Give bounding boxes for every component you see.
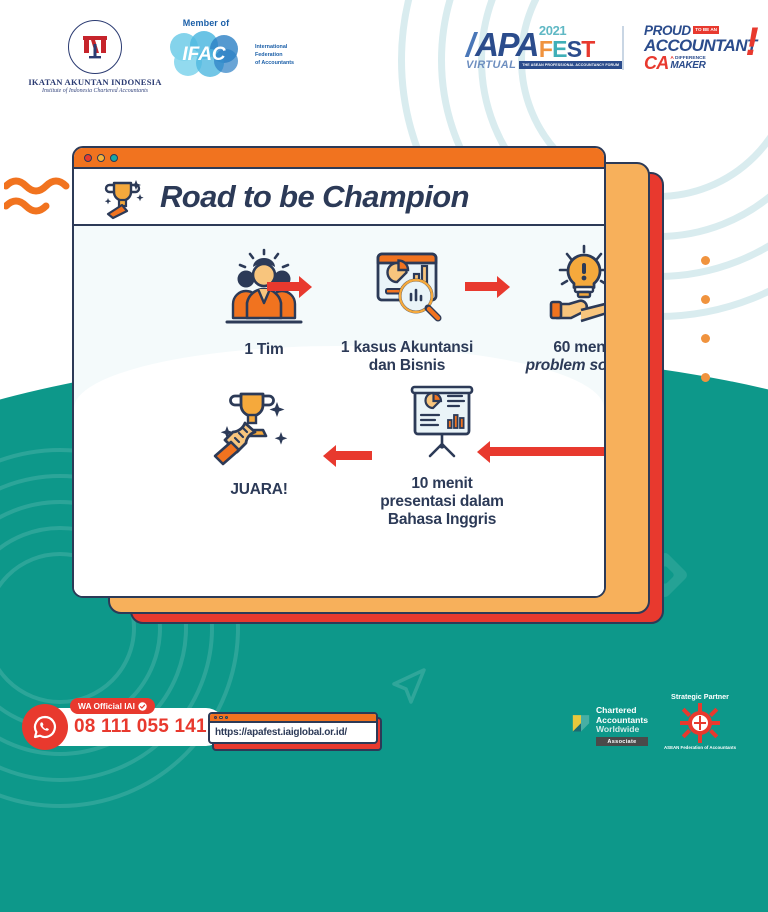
flow-arrow-3 (332, 451, 372, 460)
card-body: 1 Tim (74, 226, 604, 596)
browser-window-card: Road to be Champion (72, 146, 606, 598)
to-be-an-label: TO BE AN (693, 26, 720, 34)
flow-step-4-label-line1: 10 menit (352, 475, 532, 493)
ifac-logo: Member of IFAC International Federation … (158, 18, 308, 80)
caw-associate-badge: Associate (596, 737, 648, 746)
flow-step-4-label-line3: Bahasa Inggris (352, 511, 532, 529)
window-titlebar (74, 148, 604, 169)
flow-step-2-case: 1 kasus Akuntansi dan Bisnis (312, 242, 502, 375)
ca-label: CA (644, 55, 668, 72)
proud-accountant-logo: PROUD TO BE AN ACCOUNTANT CA A DIFFERENC… (644, 24, 757, 72)
window-minimize-dot[interactable] (97, 154, 105, 162)
poster-canvas: IKATAN AKUNTAN INDONESIA Institute of In… (0, 0, 768, 768)
accountant-label: ACCOUNTANT (644, 38, 757, 54)
apa-wordmark: APA (475, 31, 538, 59)
website-url-window[interactable]: https://apafest.iaiglobal.or.id/ (208, 712, 378, 744)
maker-label: MAKER (670, 61, 705, 70)
iai-name: IKATAN AKUNTAN INDONESIA (20, 77, 170, 87)
orange-squiggle-decoration (4, 172, 82, 220)
flow-step-5-label: JUARA! (184, 481, 334, 499)
url-window-titlebar (210, 714, 376, 723)
ifac-member-of-label: Member of (158, 18, 254, 28)
flow-step-1-tim: 1 Tim (204, 248, 324, 359)
analysis-icon (364, 242, 450, 328)
presentation-icon (404, 384, 480, 464)
flow-step-2-label-line2: dan Bisnis (312, 357, 502, 375)
svg-text:IFAC: IFAC (182, 44, 226, 65)
apa-virtual-label: VIRTUAL (466, 59, 516, 71)
strategic-partner-title: Strategic Partner (658, 692, 742, 701)
apafest-logo: / APA 2021 FEST VIRTUAL THE ASEAN PROFES… (466, 22, 622, 71)
ifac-mark-icon: IFAC (158, 30, 250, 80)
ifac-tagline: International Federation of Accountants (255, 43, 294, 67)
chartered-accountants-worldwide-logo: Chartered Accountants Worldwide Associat… (571, 706, 648, 746)
strategic-partner-block: Strategic Partner ASEAN Federatio (658, 692, 742, 750)
page-title: Road to be Champion (160, 179, 469, 215)
flow-step-1-label: 1 Tim (204, 341, 324, 359)
fest-wordmark: FEST (539, 40, 595, 58)
window-maximize-dot[interactable] (110, 154, 118, 162)
champion-trophy-icon (211, 384, 307, 470)
afa-starburst-icon (678, 703, 722, 743)
whatsapp-phone-number[interactable]: 08 111 055 141 (74, 716, 207, 738)
header-logo-bar: IKATAN AKUNTAN INDONESIA Institute of In… (0, 0, 768, 110)
whatsapp-contact[interactable]: WA Official IAI 08 111 055 141 (30, 708, 225, 746)
trophy-icon (100, 174, 146, 220)
iai-logo: IKATAN AKUNTAN INDONESIA Institute of In… (20, 20, 170, 94)
idea-hand-icon (541, 242, 606, 328)
iai-subtitle: Institute of Indonesia Chartered Account… (20, 88, 170, 94)
flow-arrow-1 (267, 282, 303, 291)
flow-diagram: 1 Tim (74, 226, 604, 596)
caw-mark-icon (571, 713, 591, 739)
iai-emblem-icon (68, 20, 122, 74)
website-url[interactable]: https://apafest.iaiglobal.or.id/ (210, 723, 376, 742)
flow-step-5-juara: JUARA! (184, 384, 334, 499)
header-divider (622, 26, 624, 70)
exclamation-mark: ! (745, 26, 758, 58)
whatsapp-icon[interactable] (22, 704, 68, 750)
wa-badge-label: WA Official IAI (78, 701, 135, 711)
verified-check-icon (138, 702, 147, 711)
apa-tagline: THE ASEAN PROFESSIONAL ACCOUNTANCY FORUM (519, 61, 622, 69)
strategic-partner-subtitle: ASEAN Federation of Accountants (658, 745, 742, 750)
window-close-dot[interactable] (84, 154, 92, 162)
caw-text: Chartered Accountants Worldwide (596, 706, 648, 735)
flow-step-2-label-line1: 1 kasus Akuntansi (312, 339, 502, 357)
flow-step-4-presentation: 10 menit presentasi dalam Bahasa Inggris (352, 384, 532, 529)
wa-official-badge: WA Official IAI (70, 698, 155, 714)
footer-bar: WA Official IAI 08 111 055 141 https://a… (0, 676, 768, 768)
orange-dots-decoration (701, 256, 710, 412)
flow-step-4-label-line2: presentasi dalam (352, 493, 532, 511)
card-title-row: Road to be Champion (74, 169, 604, 226)
apa-slash: / (466, 31, 475, 59)
